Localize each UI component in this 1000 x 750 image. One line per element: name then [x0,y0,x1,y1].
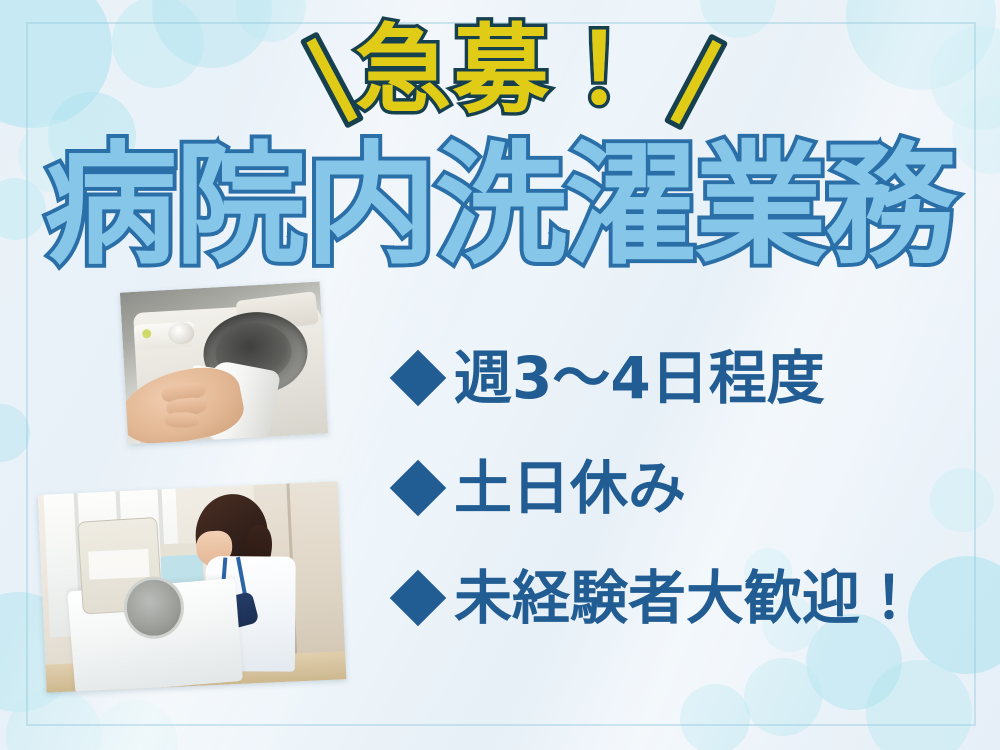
benefit-text-daysoff: 土日休み [454,459,686,517]
main-title-outline: 病院内洗濯業務 [0,126,1000,286]
list-item: 週3〜4日程度 [398,330,978,426]
headline-text-outline: 急募！ [352,12,652,128]
poster-canvas: 急募！ 急募！ 病院内洗濯業務 病院内洗濯業務 [0,0,1000,750]
list-item: 未経験者大歓迎！ [398,550,978,646]
bubble-decoration [744,658,822,736]
bubble-decoration [92,700,178,750]
benefit-text-schedule: 週3〜4日程度 [454,349,825,407]
photo-staff-at-washer [38,481,347,692]
benefits-list: 週3〜4日程度 土日休み 未経験者大歓迎！ [398,330,978,660]
photo-washing-machine-detergent [120,282,328,445]
slash-mark-right-icon [664,33,729,131]
benefit-text-experience: 未経験者大歓迎！ [454,569,918,627]
diamond-bullet-icon [390,460,447,517]
diamond-bullet-icon [390,570,447,627]
diamond-bullet-icon [390,350,447,407]
bubble-decoration [680,684,750,750]
photo-1-art [120,282,328,445]
list-item: 土日休み [398,440,978,536]
bubble-decoration [0,404,30,462]
photo-2-art [38,481,347,692]
headline-group: 急募！ 急募！ [0,6,1000,126]
main-title-group: 病院内洗濯業務 病院内洗濯業務 [0,126,1000,286]
